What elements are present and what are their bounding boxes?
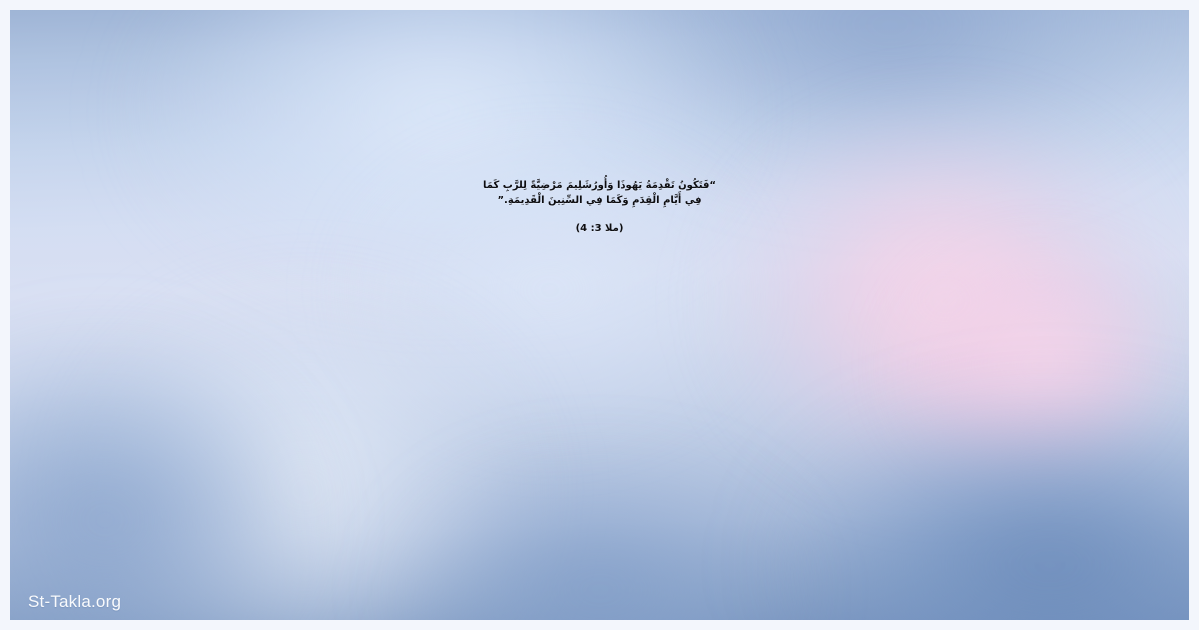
site-watermark: St-Takla.org	[28, 592, 121, 612]
background-tonal-veil	[10, 10, 1189, 620]
verse-line-2: فِي أَيَّامِ الْقِدَمِ وَكَمَا فِي السِّ…	[10, 193, 1189, 208]
scripture-verse-block: “فَتَكُونُ تَقْدِمَةُ يَهُوذَا وَأُورُشَ…	[10, 178, 1189, 236]
verse-image-canvas: “فَتَكُونُ تَقْدِمَةُ يَهُوذَا وَأُورُشَ…	[0, 0, 1199, 630]
verse-line-1: “فَتَكُونُ تَقْدِمَةُ يَهُوذَا وَأُورُشَ…	[10, 178, 1189, 193]
background-photo-plate: “فَتَكُونُ تَقْدِمَةُ يَهُوذَا وَأُورُشَ…	[10, 10, 1189, 620]
verse-reference: (ملا 3: 4)	[10, 221, 1189, 236]
